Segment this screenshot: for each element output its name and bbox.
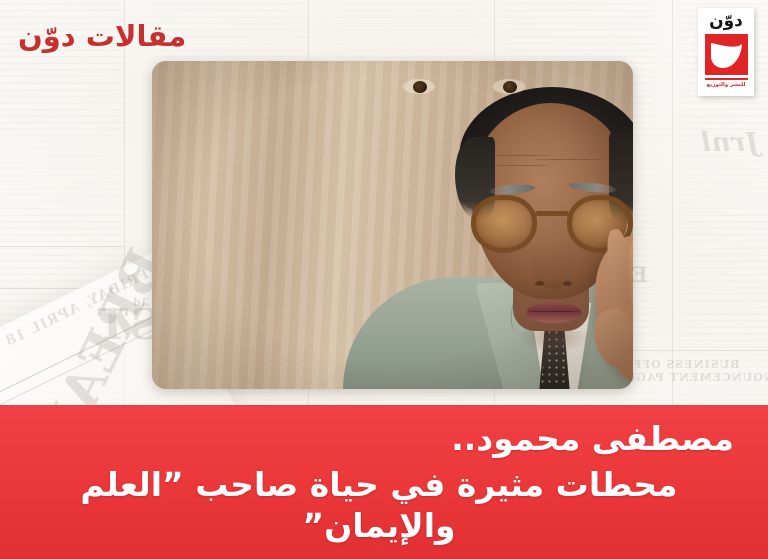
logo-divider [705, 78, 748, 80]
logo-wordmark: دوّن [709, 13, 743, 30]
article-photo [152, 61, 633, 389]
headline-line-1: مصطفى محمود.. [22, 419, 736, 459]
headline-banner: مصطفى محمود.. محطات مثيرة في حياة صاحب ”… [0, 405, 768, 559]
kicker-label: مقالات دوّن [18, 18, 186, 54]
publisher-logo[interactable]: دوّن للنشر والتوزيع [698, 8, 754, 96]
photo-vignette [152, 61, 633, 389]
ghost-text-journal: Jrnl [700, 128, 759, 158]
headline-line-2: محطات مثيرة في حياة صاحب ”العلم والإيمان… [22, 465, 736, 546]
crescent-swoosh-mark-icon [705, 34, 748, 75]
newsprint-horizontal-rule [0, 246, 124, 247]
logo-tagline: للنشر والتوزيع [707, 82, 746, 88]
article-promo-card: PAST BREAK FRIDAY, APRIL 18 EXTRA BUSINE… [0, 0, 768, 559]
